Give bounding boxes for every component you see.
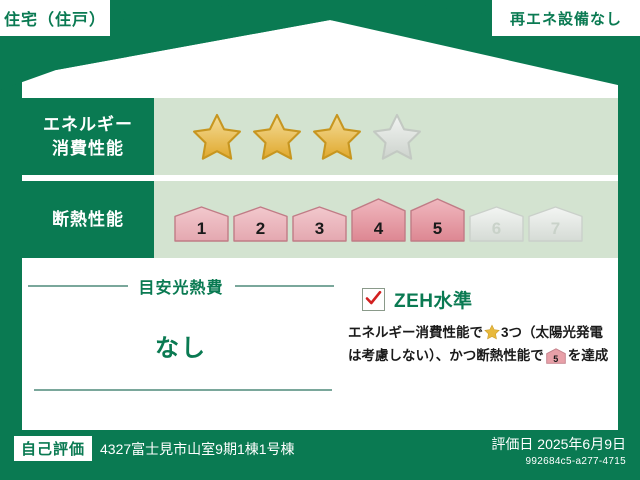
insulation-level-number: 2: [232, 219, 289, 239]
star-empty-icon: [371, 112, 423, 162]
label-content: エネルギー 消費性能 断熱性能 1234567 目安光熱費: [22, 98, 618, 425]
evaluation-id: 992684c5-a277-4715: [491, 456, 626, 467]
utility-cost-value: なし: [22, 328, 340, 363]
insulation-performance-row: 断熱性能 1234567: [22, 181, 618, 258]
insulation-label-line1: 断熱性能: [52, 208, 124, 232]
inline-house-number: 5: [546, 348, 566, 371]
energy-performance-label: 住宅（住戸） 再エネ設備なし 建築物省エネ法に基づく 省エネ性能ラベル エネルギ…: [0, 0, 640, 480]
star-rating: [154, 112, 423, 162]
utility-cost-section: 目安光熱費 なし: [22, 264, 340, 419]
insulation-level-5: 5: [409, 197, 466, 243]
utility-cost-heading: 目安光熱費: [22, 264, 340, 298]
energy-performance-value: [154, 98, 618, 175]
star-filled-icon: [251, 112, 303, 162]
insulation-level-4: 4: [350, 197, 407, 243]
star-filled-icon: [311, 112, 363, 162]
insulation-level-number: 4: [350, 219, 407, 239]
zeh-desc-part4: を達成: [568, 348, 609, 363]
energy-label-line1: エネルギー: [43, 113, 133, 137]
insulation-level-6: 6: [468, 205, 525, 243]
heading-rule-left: [28, 285, 128, 287]
zeh-description: エネルギー消費性能で3つ（太陽光発電 は考慮しない）、かつ断熱性能で5を達成: [340, 321, 618, 371]
renewable-energy-tag: 再エネ設備なし: [492, 0, 640, 36]
footer-left: 自己評価 4327富士見市山室9期1棟1号棟: [14, 436, 295, 461]
footer-right: 評価日 2025年6月9日 992684c5-a277-4715: [491, 434, 626, 467]
inline-house-badge: 5: [546, 348, 566, 371]
building-name: 4327富士見市山室9期1棟1号棟: [100, 439, 295, 459]
star-filled-icon: [191, 112, 243, 162]
insulation-performance-label-box: 断熱性能: [22, 181, 154, 258]
utility-cost-title: 目安光熱費: [128, 274, 235, 298]
insulation-level-3: 3: [291, 205, 348, 243]
zeh-heading: ZEH水準: [340, 286, 618, 313]
energy-performance-label-box: エネルギー 消費性能: [22, 98, 154, 175]
insulation-level-1: 1: [173, 205, 230, 243]
evaluation-date-value: 2025年6月9日: [537, 436, 626, 452]
zeh-desc-part2: 3つ（太陽光発電: [501, 325, 603, 340]
insulation-level-number: 7: [527, 219, 584, 239]
check-icon: [364, 289, 383, 308]
zeh-title: ZEH水準: [394, 286, 473, 313]
energy-label-line2: 消費性能: [52, 137, 124, 161]
insulation-level-7: 7: [527, 205, 584, 243]
zeh-desc-part3: は考慮しない）、かつ断熱性能で: [348, 348, 544, 363]
insulation-level-2: 2: [232, 205, 289, 243]
zeh-desc-part1: エネルギー消費性能で: [348, 325, 483, 340]
housing-type-tag: 住宅（住戸）: [0, 0, 110, 36]
evaluation-date: 評価日 2025年6月9日: [491, 434, 626, 454]
bottom-section: 目安光熱費 なし ZEH水準 エネルギー消費性能で3つ（太陽光発電: [22, 264, 618, 419]
zeh-section: ZEH水準 エネルギー消費性能で3つ（太陽光発電 は考慮しない）、かつ断熱性能で…: [340, 264, 618, 419]
heading-rule-right: [235, 285, 335, 287]
inline-star-icon: [484, 324, 500, 340]
insulation-performance-value: 1234567: [154, 181, 618, 258]
evaluation-date-label: 評価日: [491, 436, 533, 452]
insulation-level-number: 5: [409, 219, 466, 239]
label-footer: 自己評価 4327富士見市山室9期1棟1号棟 評価日 2025年6月9日 992…: [0, 428, 640, 480]
insulation-level-number: 1: [173, 219, 230, 239]
insulation-level-scale: 1234567: [154, 197, 584, 243]
energy-performance-row: エネルギー 消費性能: [22, 98, 618, 175]
insulation-level-number: 6: [468, 219, 525, 239]
insulation-level-number: 3: [291, 219, 348, 239]
self-evaluation-badge: 自己評価: [14, 436, 92, 461]
bottom-rule: [34, 389, 332, 391]
zeh-checkbox[interactable]: [362, 288, 385, 311]
